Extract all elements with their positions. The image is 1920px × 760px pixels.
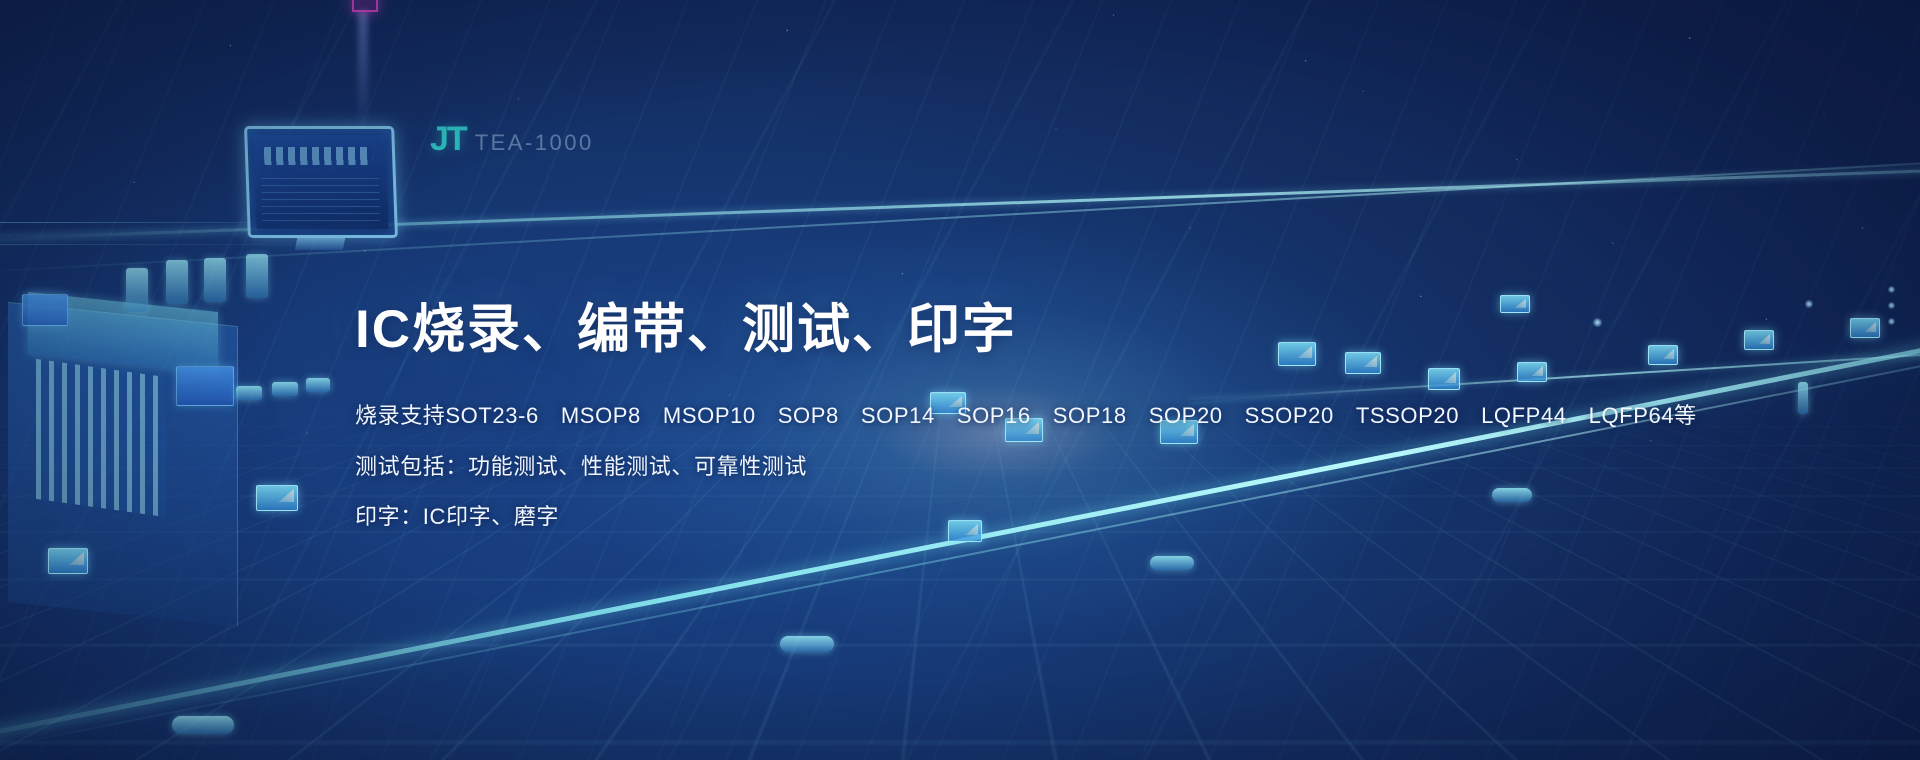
- light-pill: [1798, 382, 1808, 414]
- rail-upper-line: [0, 168, 1920, 241]
- light-pill: [780, 636, 834, 652]
- package-label: SOP8: [778, 403, 839, 428]
- chip-marker: [1850, 318, 1880, 338]
- page-title: IC烧录、编带、测试、印字: [355, 300, 1697, 359]
- package-label: MSOP10: [663, 403, 756, 428]
- marking-scope-line: 印字：IC印字、磨字: [355, 504, 1697, 530]
- package-label: SOP14: [861, 403, 935, 428]
- magenta-marker-icon: [352, 0, 378, 12]
- package-label: SOP20: [1149, 403, 1223, 428]
- chip-marker: [48, 548, 88, 574]
- banner-detail-lines: 烧录支持SOT23-6MSOP8MSOP10SOP8SOP14SOP16SOP1…: [355, 403, 1697, 530]
- burn-support-line: 烧录支持SOT23-6MSOP8MSOP10SOP8SOP14SOP16SOP1…: [355, 403, 1697, 429]
- machinery-illustration: [0, 218, 330, 638]
- light-dot: [1888, 286, 1895, 293]
- hero-banner: JT TEA-1000 IC烧录、编带、测试、印字 烧录支持SOT23-6MSO…: [0, 0, 1920, 760]
- package-label: SOT23-6: [445, 403, 538, 428]
- package-label: SOP16: [957, 403, 1031, 428]
- package-label: TSSOP20: [1356, 403, 1459, 428]
- chip-marker: [1744, 330, 1774, 350]
- monitor-stand: [295, 238, 346, 250]
- test-scope-line: 测试包括：功能测试、性能测试、可靠性测试: [355, 454, 1697, 480]
- package-label: MSOP8: [561, 403, 641, 428]
- light-beam: [358, 10, 368, 130]
- light-dot: [1888, 302, 1895, 309]
- chip-marker: [256, 485, 298, 511]
- monitor-illustration: [244, 126, 398, 238]
- watermark-brand-mark: JT: [430, 120, 466, 159]
- light-dot: [1805, 300, 1813, 308]
- watermark-logo: JT TEA-1000: [430, 120, 594, 159]
- rail-upper-secondary-line: [0, 161, 1920, 274]
- light-dot: [1888, 318, 1895, 325]
- light-pill: [172, 716, 234, 734]
- package-label: LQFP44: [1481, 403, 1567, 428]
- burn-support-prefix: 烧录支持: [355, 403, 445, 428]
- package-label: SSOP20: [1245, 403, 1334, 428]
- package-label: LQFP64等: [1589, 403, 1697, 428]
- package-label: SOP18: [1053, 403, 1127, 428]
- watermark-model-text: TEA-1000: [475, 130, 594, 156]
- banner-copy-block: IC烧录、编带、测试、印字 烧录支持SOT23-6MSOP8MSOP10SOP8…: [355, 300, 1697, 531]
- light-pill: [1150, 556, 1194, 570]
